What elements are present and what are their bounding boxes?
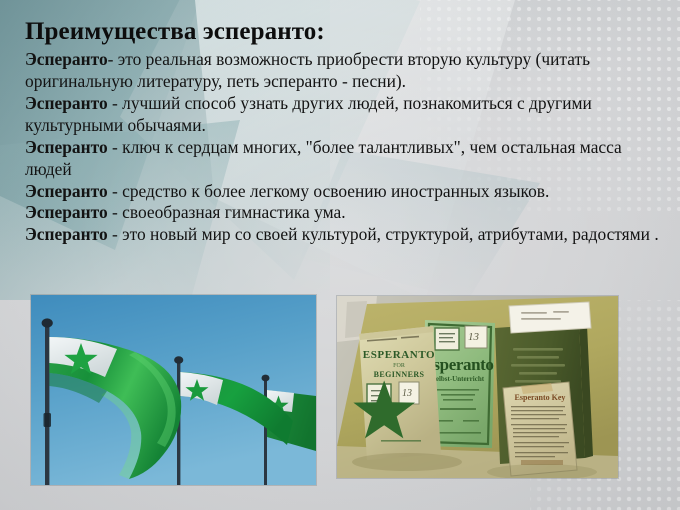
books-illustration: 13 Esperanto Selbst-Unterricht xyxy=(337,296,618,478)
bullet-line-4: Эсперанто - средство к более легкому осв… xyxy=(25,181,660,203)
paper-card xyxy=(509,302,591,333)
bullet-line-5: Эсперанто - своеобразная гимнастика ума. xyxy=(25,202,660,224)
presentation-slide: Преимущества эсперанто: Эсперанто- это р… xyxy=(0,0,680,510)
slide-content: Преимущества эсперанто: Эсперанто- это р… xyxy=(25,18,660,246)
book-esperanto-beginners: ESPERANTO FOR BEGINNERS 13 xyxy=(353,326,441,460)
bullet-line-1: Эсперанто- это реальная возможность прио… xyxy=(25,49,660,93)
bullet-keyword: Эсперанто xyxy=(25,224,108,244)
bullet-text: - ключ к сердцам многих, "более талантли… xyxy=(25,137,622,179)
bullet-keyword: Эсперанто xyxy=(25,202,108,222)
flags-illustration xyxy=(31,295,316,485)
bullet-keyword: Эсперанто xyxy=(25,137,108,157)
bullet-text: - это новый мир со своей культурой, стру… xyxy=(108,224,659,244)
esperanto-books-photo: 13 Esperanto Selbst-Unterricht xyxy=(337,296,618,478)
bullet-text: - это реальная возможность приобрести вт… xyxy=(25,49,590,91)
book-title-key: Esperanto Key xyxy=(515,393,566,402)
bullet-line-6: Эсперанто - это новый мир со своей культ… xyxy=(25,224,660,246)
bullet-text: - лучший способ узнать других людей, поз… xyxy=(25,93,592,135)
svg-text:13: 13 xyxy=(468,331,480,343)
bullet-keyword: Эсперанто xyxy=(25,93,108,113)
bullet-keyword: Эсперанто xyxy=(25,181,108,201)
svg-text:13: 13 xyxy=(402,388,412,399)
slide-title: Преимущества эсперанто: xyxy=(25,18,660,46)
bullet-line-2: Эсперанто - лучший способ узнать других … xyxy=(25,93,660,137)
bullet-keyword: Эсперанто xyxy=(25,49,108,69)
esperanto-flags-photo xyxy=(31,295,316,485)
bullet-line-3: Эсперанто - ключ к сердцам многих, "боле… xyxy=(25,137,660,181)
svg-text:FOR: FOR xyxy=(393,363,405,369)
bullet-text: - своеобразная гимнастика ума. xyxy=(108,202,346,222)
book-esperanto-key: Esperanto Key xyxy=(503,382,577,476)
svg-text:BEGINNERS: BEGINNERS xyxy=(374,370,425,379)
svg-text:Selbst-Unterricht: Selbst-Unterricht xyxy=(432,375,485,383)
book-title-beginners: ESPERANTO xyxy=(363,349,435,361)
bullet-text: - средство к более легкому освоению инос… xyxy=(108,181,550,201)
